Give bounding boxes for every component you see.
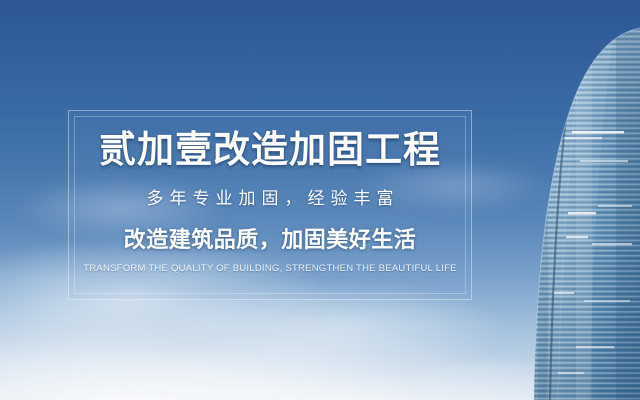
curved-glass-skyscraper: [480, 0, 640, 400]
subline-english: TRANSFORM THE QUALITY OF BUILDING, STREN…: [83, 263, 457, 274]
subline-primary: 多年专业加固，经验丰富: [141, 184, 400, 209]
headline: 贰加壹改造加固工程: [99, 131, 441, 170]
text-block: 贰加壹改造加固工程 多年专业加固，经验丰富 改造建筑品质，加固美好生活 TRAN…: [69, 111, 471, 299]
subline-secondary: 改造建筑品质，加固美好生活: [124, 222, 417, 254]
hero-banner: 贰加壹改造加固工程 多年专业加固，经验丰富 改造建筑品质，加固美好生活 TRAN…: [0, 0, 640, 400]
text-frame-panel: 贰加壹改造加固工程 多年专业加固，经验丰富 改造建筑品质，加固美好生活 TRAN…: [68, 110, 472, 300]
